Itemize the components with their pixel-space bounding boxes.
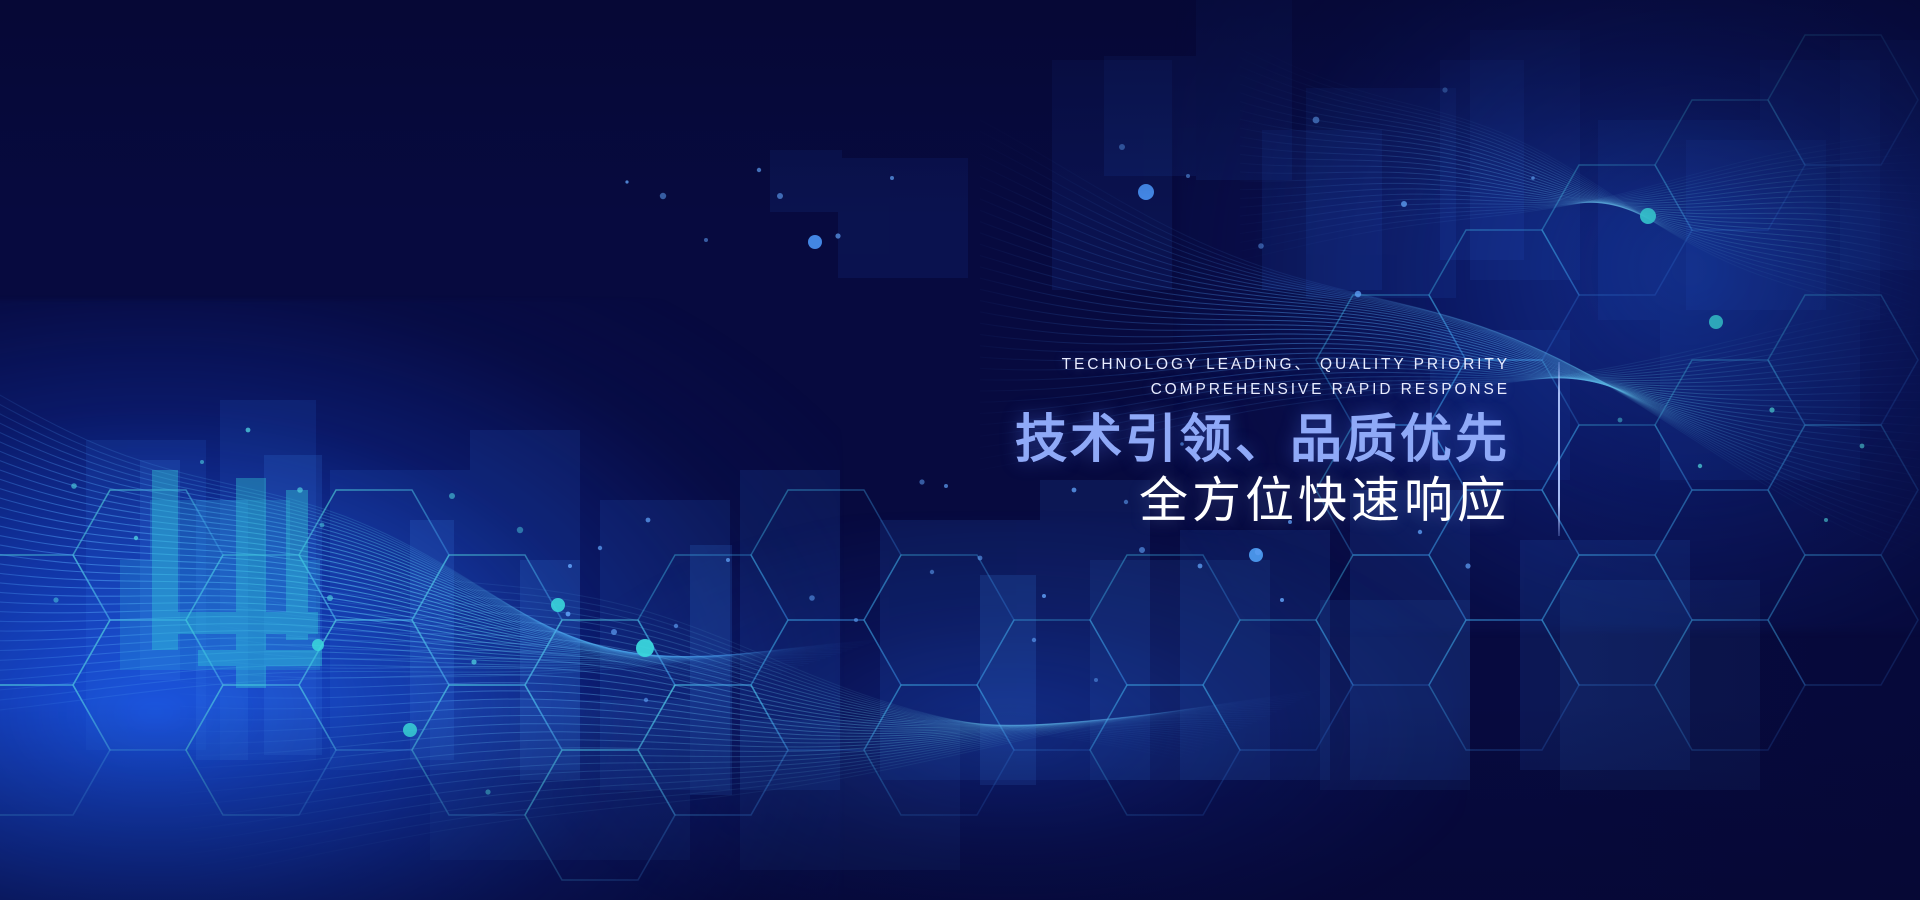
headline-block: TECHNOLOGY LEADING、 QUALITY PRIORITY COM… xyxy=(880,352,1510,530)
headline-divider xyxy=(1558,362,1560,536)
title-line-1: 技术引领、品质优先 xyxy=(880,410,1510,470)
eyebrow-line-1: TECHNOLOGY LEADING、 QUALITY PRIORITY xyxy=(880,352,1510,377)
eyebrow-line-2: COMPREHENSIVE RAPID RESPONSE xyxy=(880,377,1510,402)
title-line-2: 全方位快速响应 xyxy=(880,472,1510,530)
tech-banner: TECHNOLOGY LEADING、 QUALITY PRIORITY COM… xyxy=(0,0,1920,900)
